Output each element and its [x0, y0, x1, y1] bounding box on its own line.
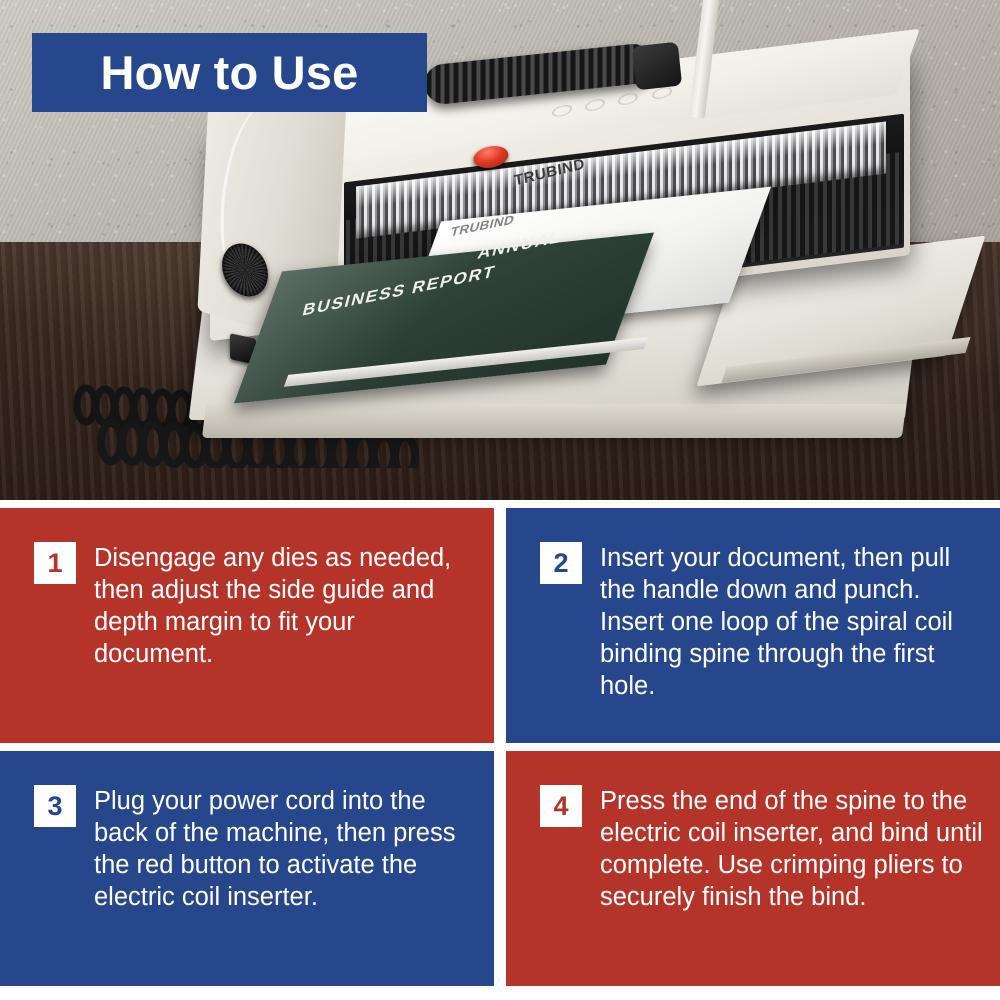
handle-grip-cap: [632, 42, 682, 91]
machine-base-front: [202, 404, 906, 438]
step-card-2: 2 Insert your document, then pull the ha…: [506, 508, 1000, 743]
step-card-3: 3 Plug your power cord into the back of …: [0, 751, 494, 986]
step-text-1: Disengage any dies as needed, then adjus…: [94, 542, 478, 670]
how-to-use-infographic: TRUBIND TRUBIND BUSINESS REPORT ANNUAL H…: [0, 0, 1000, 1000]
steps-grid: 1 Disengage any dies as needed, then adj…: [0, 508, 1000, 1000]
step-text-4: Press the end of the spine to the electr…: [600, 785, 984, 913]
step-number-badge-1: 1: [34, 542, 76, 584]
step-card-1: 1 Disengage any dies as needed, then adj…: [0, 508, 494, 743]
step-number-badge-2: 2: [540, 542, 582, 584]
step-text-3: Plug your power cord into the back of th…: [94, 785, 478, 913]
step-number-badge-3: 3: [34, 785, 76, 827]
page-title: How to Use: [101, 49, 359, 96]
header-banner: How to Use: [32, 33, 427, 112]
product-photo: TRUBIND TRUBIND BUSINESS REPORT ANNUAL H…: [0, 0, 1000, 500]
step-card-4: 4 Press the end of the spine to the elec…: [506, 751, 1000, 986]
step-text-2: Insert your document, then pull the hand…: [600, 542, 984, 702]
step-number-badge-4: 4: [540, 785, 582, 827]
